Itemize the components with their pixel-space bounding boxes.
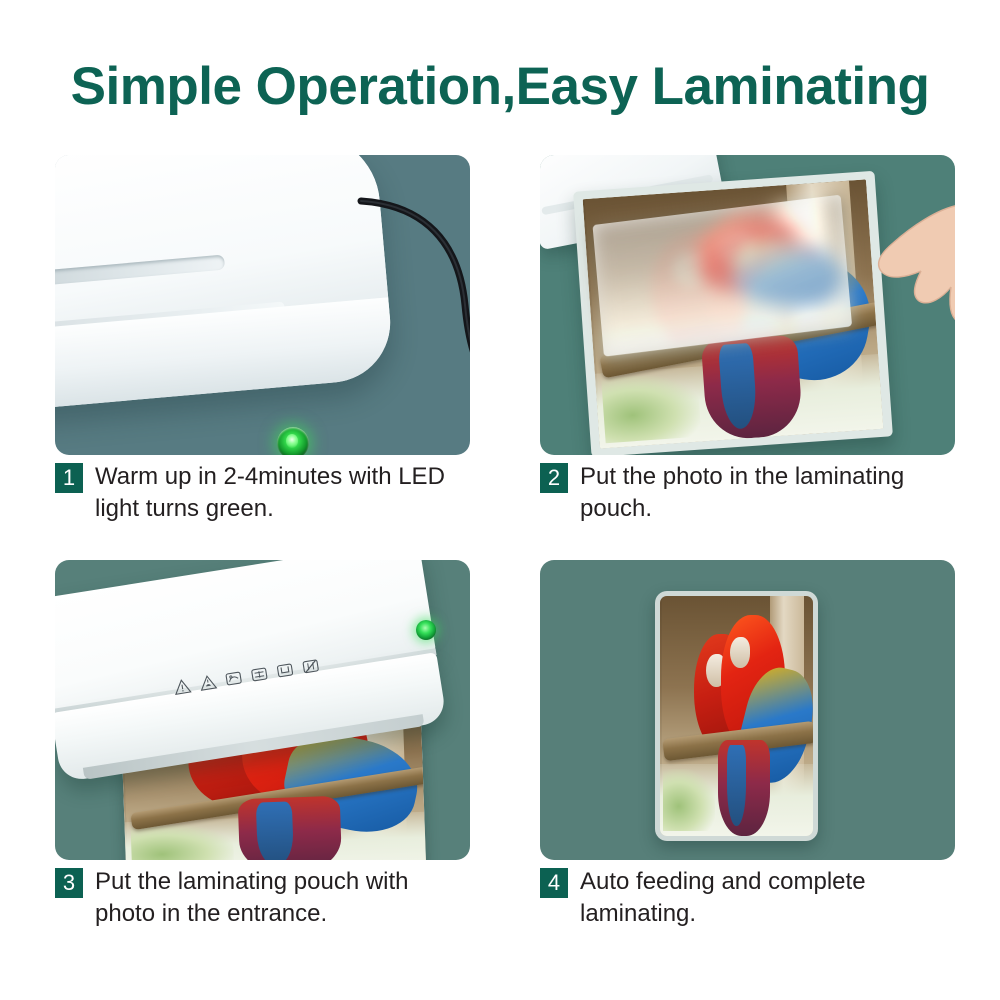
parrot-scene-artwork (660, 596, 813, 836)
step-1-caption: 1 Warm up in 2-4minutes with LED light t… (55, 461, 470, 525)
step-2-photo (540, 155, 955, 455)
page-title: Simple Operation,Easy Laminating (0, 56, 1000, 117)
insert-direction-icon (275, 661, 294, 680)
step-cell-4: 4 Auto feeding and complete laminating. (540, 560, 955, 860)
step-3-caption: 3 Put the laminating pouch with photo in… (55, 866, 470, 930)
step-caption-text-2: Put the photo in the laminating pouch. (580, 461, 955, 525)
laminated-photo-card (655, 591, 818, 841)
finished-parrot-photo (660, 596, 813, 836)
step-number-badge-4: 4 (540, 868, 568, 898)
step-cell-1: 1 Warm up in 2-4minutes with LED light t… (55, 155, 470, 455)
step-cell-2: 2 Put the photo in the laminating pouch. (540, 155, 955, 455)
step-2-caption: 2 Put the photo in the laminating pouch. (540, 461, 955, 525)
steps-grid: 1 Warm up in 2-4minutes with LED light t… (55, 155, 955, 860)
hand-holding-pouch (841, 203, 955, 353)
led-power-indicator (416, 620, 436, 640)
warning-triangle-icon (173, 677, 192, 696)
power-cable (355, 195, 470, 425)
laminator-body (55, 155, 395, 412)
step-1-photo (55, 155, 470, 455)
step-number-badge-1: 1 (55, 463, 83, 493)
step-caption-text-3: Put the laminating pouch with photo in t… (95, 866, 470, 930)
do-not-laminate-icon (301, 657, 320, 676)
step-caption-text-4: Auto feeding and complete laminating. (580, 866, 955, 930)
step-cell-3: 3 Put the laminating pouch with photo in… (55, 560, 470, 860)
pouch-thickness-icon (250, 665, 269, 684)
step-number-badge-2: 2 (540, 463, 568, 493)
infographic-page: Simple Operation,Easy Laminating (0, 0, 1000, 1000)
hot-surface-warning-icon (198, 673, 217, 692)
step-4-caption: 4 Auto feeding and complete laminating. (540, 866, 955, 930)
step-number-badge-3: 3 (55, 868, 83, 898)
no-metal-object-icon (224, 669, 243, 688)
step-caption-text-1: Warm up in 2-4minutes with LED light tur… (95, 461, 470, 525)
step-3-photo (55, 560, 470, 860)
step-4-photo (540, 560, 955, 860)
led-power-indicator (277, 427, 309, 455)
